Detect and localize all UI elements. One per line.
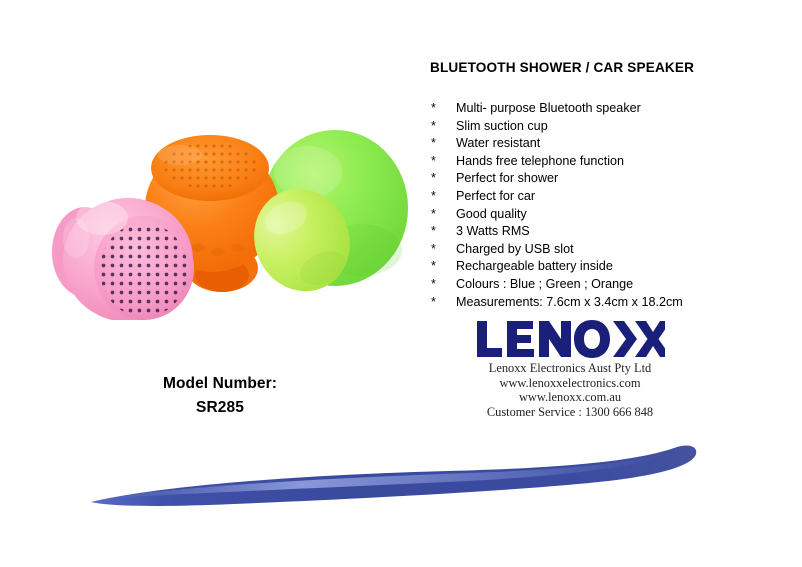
bullet-star-icon: * <box>431 153 436 171</box>
list-item: * Hands free telephone function <box>430 153 780 171</box>
list-item: * 3 Watts RMS <box>430 223 780 241</box>
bullet-star-icon: * <box>431 188 436 206</box>
feature-list: * Multi- purpose Bluetooth speaker * Sli… <box>430 100 780 311</box>
product-photo <box>40 100 430 320</box>
feature-text: Measurements: 7.6cm x 3.4cm x 18.2cm <box>456 295 683 309</box>
list-item: * Good quality <box>430 206 780 224</box>
list-item: * Perfect for shower <box>430 170 780 188</box>
blue-swoosh-divider <box>88 440 713 512</box>
list-item: * Slim suction cup <box>430 118 780 136</box>
feature-text: Perfect for shower <box>456 171 558 185</box>
feature-text: Charged by USB slot <box>456 242 574 256</box>
list-item: * Colours : Blue ; Green ; Orange <box>430 276 780 294</box>
model-number-block: Model Number: SR285 <box>95 372 345 420</box>
brand-contact-details: Lenoxx Electronics Aust Pty Ltd www.leno… <box>466 361 674 419</box>
list-item: * Perfect for car <box>430 188 780 206</box>
brand-logo-block: Lenoxx Electronics Aust Pty Ltd www.leno… <box>466 318 674 419</box>
bullet-star-icon: * <box>431 241 436 259</box>
feature-text: Multi- purpose Bluetooth speaker <box>456 101 641 115</box>
website-secondary: www.lenoxx.com.au <box>466 390 674 405</box>
bullet-star-icon: * <box>431 170 436 188</box>
bullet-star-icon: * <box>431 135 436 153</box>
bullet-star-icon: * <box>431 206 436 224</box>
feature-text: 3 Watts RMS <box>456 224 530 238</box>
list-item: * Measurements: 7.6cm x 3.4cm x 18.2cm <box>430 294 780 312</box>
list-item: * Rechargeable battery inside <box>430 258 780 276</box>
bullet-star-icon: * <box>431 276 436 294</box>
pink-speaker <box>52 198 194 320</box>
lenoxx-wordmark-logo <box>466 318 674 360</box>
list-item: * Water resistant <box>430 135 780 153</box>
bullet-star-icon: * <box>431 118 436 136</box>
model-number-value: SR285 <box>95 396 345 420</box>
bullet-star-icon: * <box>431 223 436 241</box>
customer-service-line: Customer Service : 1300 666 848 <box>466 405 674 420</box>
company-name: Lenoxx Electronics Aust Pty Ltd <box>466 361 674 376</box>
feature-text: Water resistant <box>456 136 540 150</box>
model-number-label: Model Number: <box>95 372 345 396</box>
feature-text: Rechargeable battery inside <box>456 259 613 273</box>
feature-text: Perfect for car <box>456 189 535 203</box>
list-item: * Multi- purpose Bluetooth speaker <box>430 100 780 118</box>
feature-text: Colours : Blue ; Green ; Orange <box>456 277 633 291</box>
bullet-star-icon: * <box>431 100 436 118</box>
website-primary: www.lenoxxelectronics.com <box>466 376 674 391</box>
feature-text: Good quality <box>456 207 527 221</box>
page-title: BLUETOOTH SHOWER / CAR SPEAKER <box>430 60 694 75</box>
bullet-star-icon: * <box>431 258 436 276</box>
feature-text: Hands free telephone function <box>456 154 624 168</box>
feature-text: Slim suction cup <box>456 119 548 133</box>
bullet-star-icon: * <box>431 294 436 312</box>
list-item: * Charged by USB slot <box>430 241 780 259</box>
